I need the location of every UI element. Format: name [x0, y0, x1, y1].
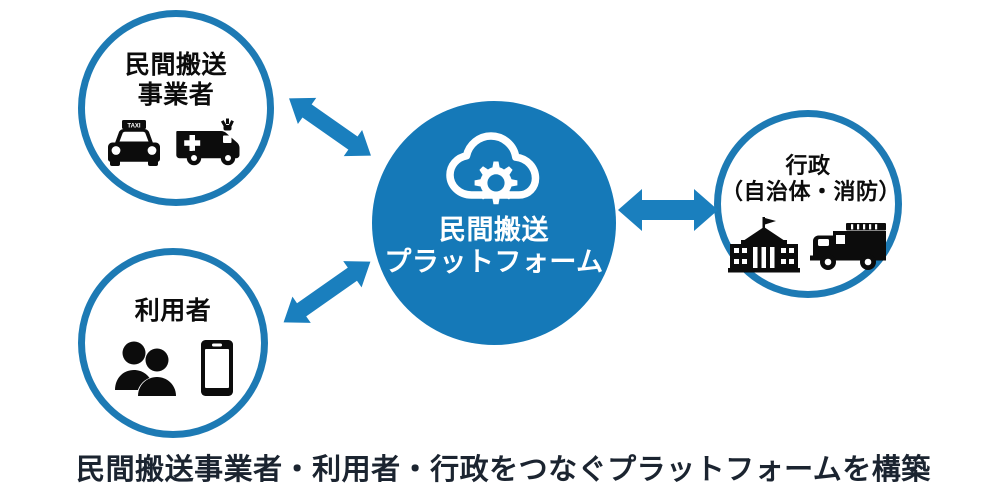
- svg-text:TAXI: TAXI: [127, 123, 141, 129]
- ambulance-icon: [175, 118, 249, 168]
- node-label-providers: 民間搬送 事業者: [125, 51, 227, 110]
- smartphone-icon: [200, 339, 234, 397]
- icon-row-government: [728, 217, 888, 273]
- icon-row-providers: TAXI: [103, 118, 249, 168]
- diagram-canvas: 民間搬送 事業者 TAXI: [0, 0, 1007, 498]
- taxi-icon: TAXI: [103, 119, 165, 167]
- icon-row-platform: [445, 131, 543, 205]
- fire-truck-icon: [808, 217, 888, 273]
- node-label-platform: 民間搬送 プラットフォーム: [384, 215, 603, 279]
- arrow-platform-government: [616, 181, 720, 239]
- node-label-users: 利用者: [135, 297, 212, 327]
- node-platform: 民間搬送 プラットフォーム: [372, 101, 616, 345]
- icon-row-users: [112, 339, 234, 397]
- node-government: 行政 （自治体・消防）: [714, 110, 902, 298]
- arrow-providers-platform: [272, 84, 388, 170]
- cloud-gear-icon: [445, 131, 543, 205]
- node-private-transport-providers: 民間搬送 事業者 TAXI: [78, 10, 274, 206]
- people-icon: [112, 340, 186, 396]
- arrow-users-platform: [266, 246, 388, 338]
- node-label-government: 行政 （自治体・消防）: [721, 153, 895, 205]
- diagram-caption: 民間搬送事業者・利用者・行政をつなぐプラットフォームを構築: [0, 446, 1007, 488]
- government-building-icon: [728, 217, 800, 273]
- node-users: 利用者: [78, 248, 268, 438]
